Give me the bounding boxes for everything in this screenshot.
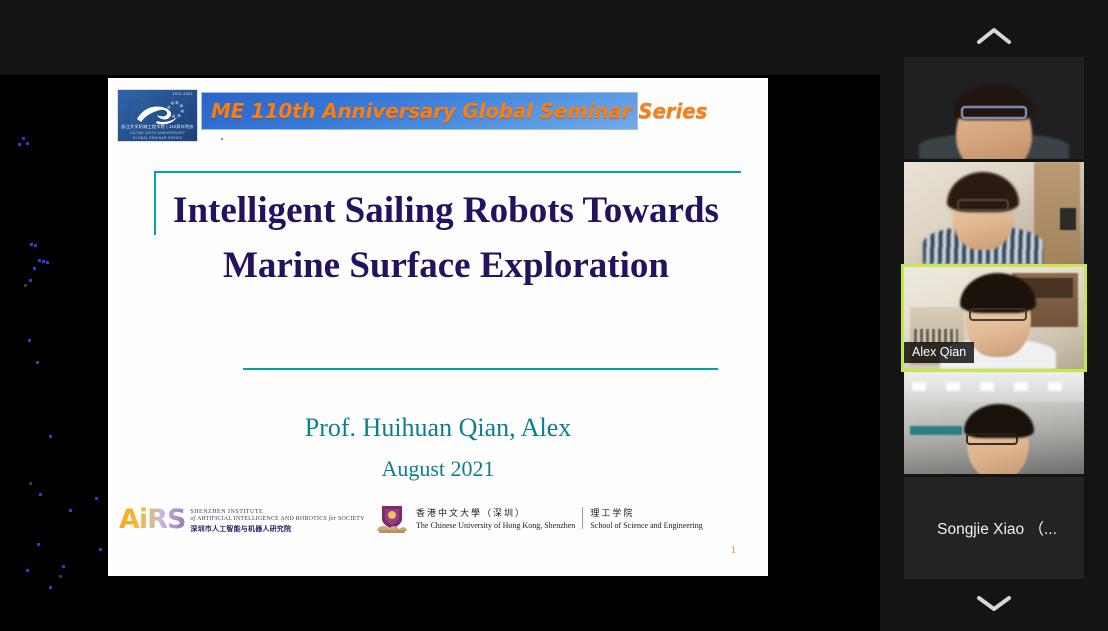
pixel-artifact [26, 569, 29, 572]
slide-footer: AiRS SHENZHEN INSTITUTE of ARTIFICIAL IN… [108, 496, 768, 576]
participant-tile[interactable] [904, 57, 1084, 159]
seminar-series-banner: ME 110th Anniversary Global Seminar Seri… [201, 92, 638, 130]
zoom-window: ♡♡♡♡♡♡♡♡♡♡♡ 1911-2021 浙江大学机械工程学院 | 110周年… [0, 0, 1108, 631]
participant-tile[interactable] [904, 162, 1084, 264]
pixel-artifact [49, 586, 52, 589]
pixel-artifact [26, 142, 29, 145]
participant-glasses [961, 106, 1027, 119]
pixel-artifact [36, 361, 39, 364]
wave-bird-swoosh-icon [135, 102, 181, 125]
airs-fullname-block: SHENZHEN INSTITUTE of ARTIFICIAL INTELLI… [190, 506, 364, 534]
slide-header: ♡♡♡♡♡♡♡♡♡♡♡ 1911-2021 浙江大学机械工程学院 | 110周年… [108, 78, 768, 140]
seminar-series-banner-text: ME 110th Anniversary Global Seminar Seri… [211, 99, 707, 123]
cuhk-school-name: 理工学院 School of Science and Engineering [590, 506, 702, 530]
airs-line2-for: for [329, 516, 338, 522]
pixel-artifact [99, 548, 102, 551]
pixel-artifact [29, 279, 32, 282]
participant-video-feed [904, 372, 1084, 474]
cuhk-crest-icon [375, 504, 409, 534]
pixel-artifact [38, 259, 41, 262]
stray-dot-artifact [221, 138, 223, 140]
airs-line2: of ARTIFICIAL INTELLIGENCE AND ROBOTICS … [190, 516, 364, 522]
cuhk-divider [582, 507, 583, 529]
pixel-artifact [30, 243, 33, 246]
pixel-artifact [39, 493, 42, 496]
pixel-artifact [37, 543, 40, 546]
participant-glasses [969, 308, 1027, 321]
cuhk-name-chinese: 香港中文大學（深圳） [416, 506, 575, 519]
seal-english-line2: GLOBAL SEMINAR SERIES [118, 136, 197, 140]
participant-filmstrip: Alex Qian Songjie Xiao （... [880, 0, 1108, 631]
participant-tile-video-off[interactable]: Songjie Xiao （... [904, 477, 1084, 579]
seal-years: 1911-2021 [172, 92, 193, 96]
me-110th-anniversary-seal-icon: ♡♡♡♡♡♡♡♡♡♡♡ 1911-2021 浙江大学机械工程学院 | 110周年… [117, 89, 198, 142]
cuhk-university-name: 香港中文大學（深圳） The Chinese University of Hon… [416, 506, 575, 530]
scroll-down-button[interactable] [880, 579, 1108, 627]
participant-tile-list: Alex Qian Songjie Xiao （... [880, 57, 1108, 582]
cuhk-text-block: 香港中文大學（深圳） The Chinese University of Hon… [416, 504, 703, 530]
presenter-name: Prof. Huihuan Qian, Alex [108, 413, 768, 443]
pixel-artifact [69, 509, 72, 512]
presentation-date: August 2021 [108, 456, 768, 482]
participant-video-feed [904, 162, 1084, 264]
airs-logo: AiRS SHENZHEN INSTITUTE of ARTIFICIAL IN… [119, 506, 365, 534]
pixel-artifact [22, 137, 25, 140]
slide-page-number: 1 [731, 544, 737, 556]
background-panel [1060, 208, 1076, 230]
background-ceiling-lights [912, 382, 1076, 391]
shared-screen-stage[interactable]: ♡♡♡♡♡♡♡♡♡♡♡ 1911-2021 浙江大学机械工程学院 | 110周年… [0, 75, 880, 631]
participant-glasses [966, 433, 1018, 445]
slide-title: Intelligent Sailing Robots Towards Marin… [166, 183, 726, 293]
airs-line2-post: SOCIETY [338, 516, 365, 522]
pixel-artifact [34, 244, 37, 247]
participant-tile[interactable] [904, 372, 1084, 474]
airs-wordmark: AiRS [119, 506, 185, 533]
cuhk-school-chinese: 理工学院 [590, 506, 702, 519]
participant-video-feed [904, 57, 1084, 159]
airs-line3-chinese: 深圳市人工智能与机器人研究院 [190, 524, 364, 534]
pixel-artifact [59, 575, 62, 578]
scroll-up-button[interactable] [880, 12, 1108, 60]
pixel-artifact [18, 143, 21, 146]
pixel-artifact [24, 284, 27, 287]
cuhk-shenzhen-logo: 香港中文大學（深圳） The Chinese University of Hon… [375, 504, 703, 534]
participant-glasses [957, 199, 1009, 211]
seal-english-line1: ZJU ME 110TH ANNIVERSARY [118, 131, 197, 135]
pixel-artifact [49, 435, 52, 438]
pixel-artifact [33, 267, 36, 270]
chevron-up-icon [976, 26, 1012, 46]
chevron-down-icon [976, 593, 1012, 613]
title-bottom-rule [243, 368, 718, 370]
pixel-artifact [28, 339, 31, 342]
airs-line2-mid: ARTIFICIAL INTELLIGENCE AND ROBOTICS [197, 516, 328, 522]
pixel-artifact [62, 565, 65, 568]
participant-tile-active-speaker[interactable]: Alex Qian [904, 267, 1084, 369]
title-bracket-left-rule [154, 171, 156, 235]
presentation-slide: ♡♡♡♡♡♡♡♡♡♡♡ 1911-2021 浙江大学机械工程学院 | 110周年… [108, 78, 768, 576]
participant-name-label: Alex Qian [904, 342, 974, 363]
pixel-artifact [46, 261, 49, 264]
background-object [910, 426, 962, 435]
cuhk-name-english: The Chinese University of Hong Kong, She… [416, 521, 575, 530]
title-bracket-top-rule [154, 171, 741, 173]
airs-line1: SHENZHEN INSTITUTE [190, 509, 364, 515]
participant-name-label: Songjie Xiao （... [931, 517, 1057, 539]
pixel-artifact [29, 482, 32, 485]
background-books [914, 329, 958, 343]
pixel-artifact [42, 260, 45, 263]
pixel-artifact [95, 497, 98, 500]
seal-chinese-text: 浙江大学机械工程学院 | 110周年院庆 [118, 124, 197, 130]
cuhk-school-english: School of Science and Engineering [590, 521, 702, 530]
